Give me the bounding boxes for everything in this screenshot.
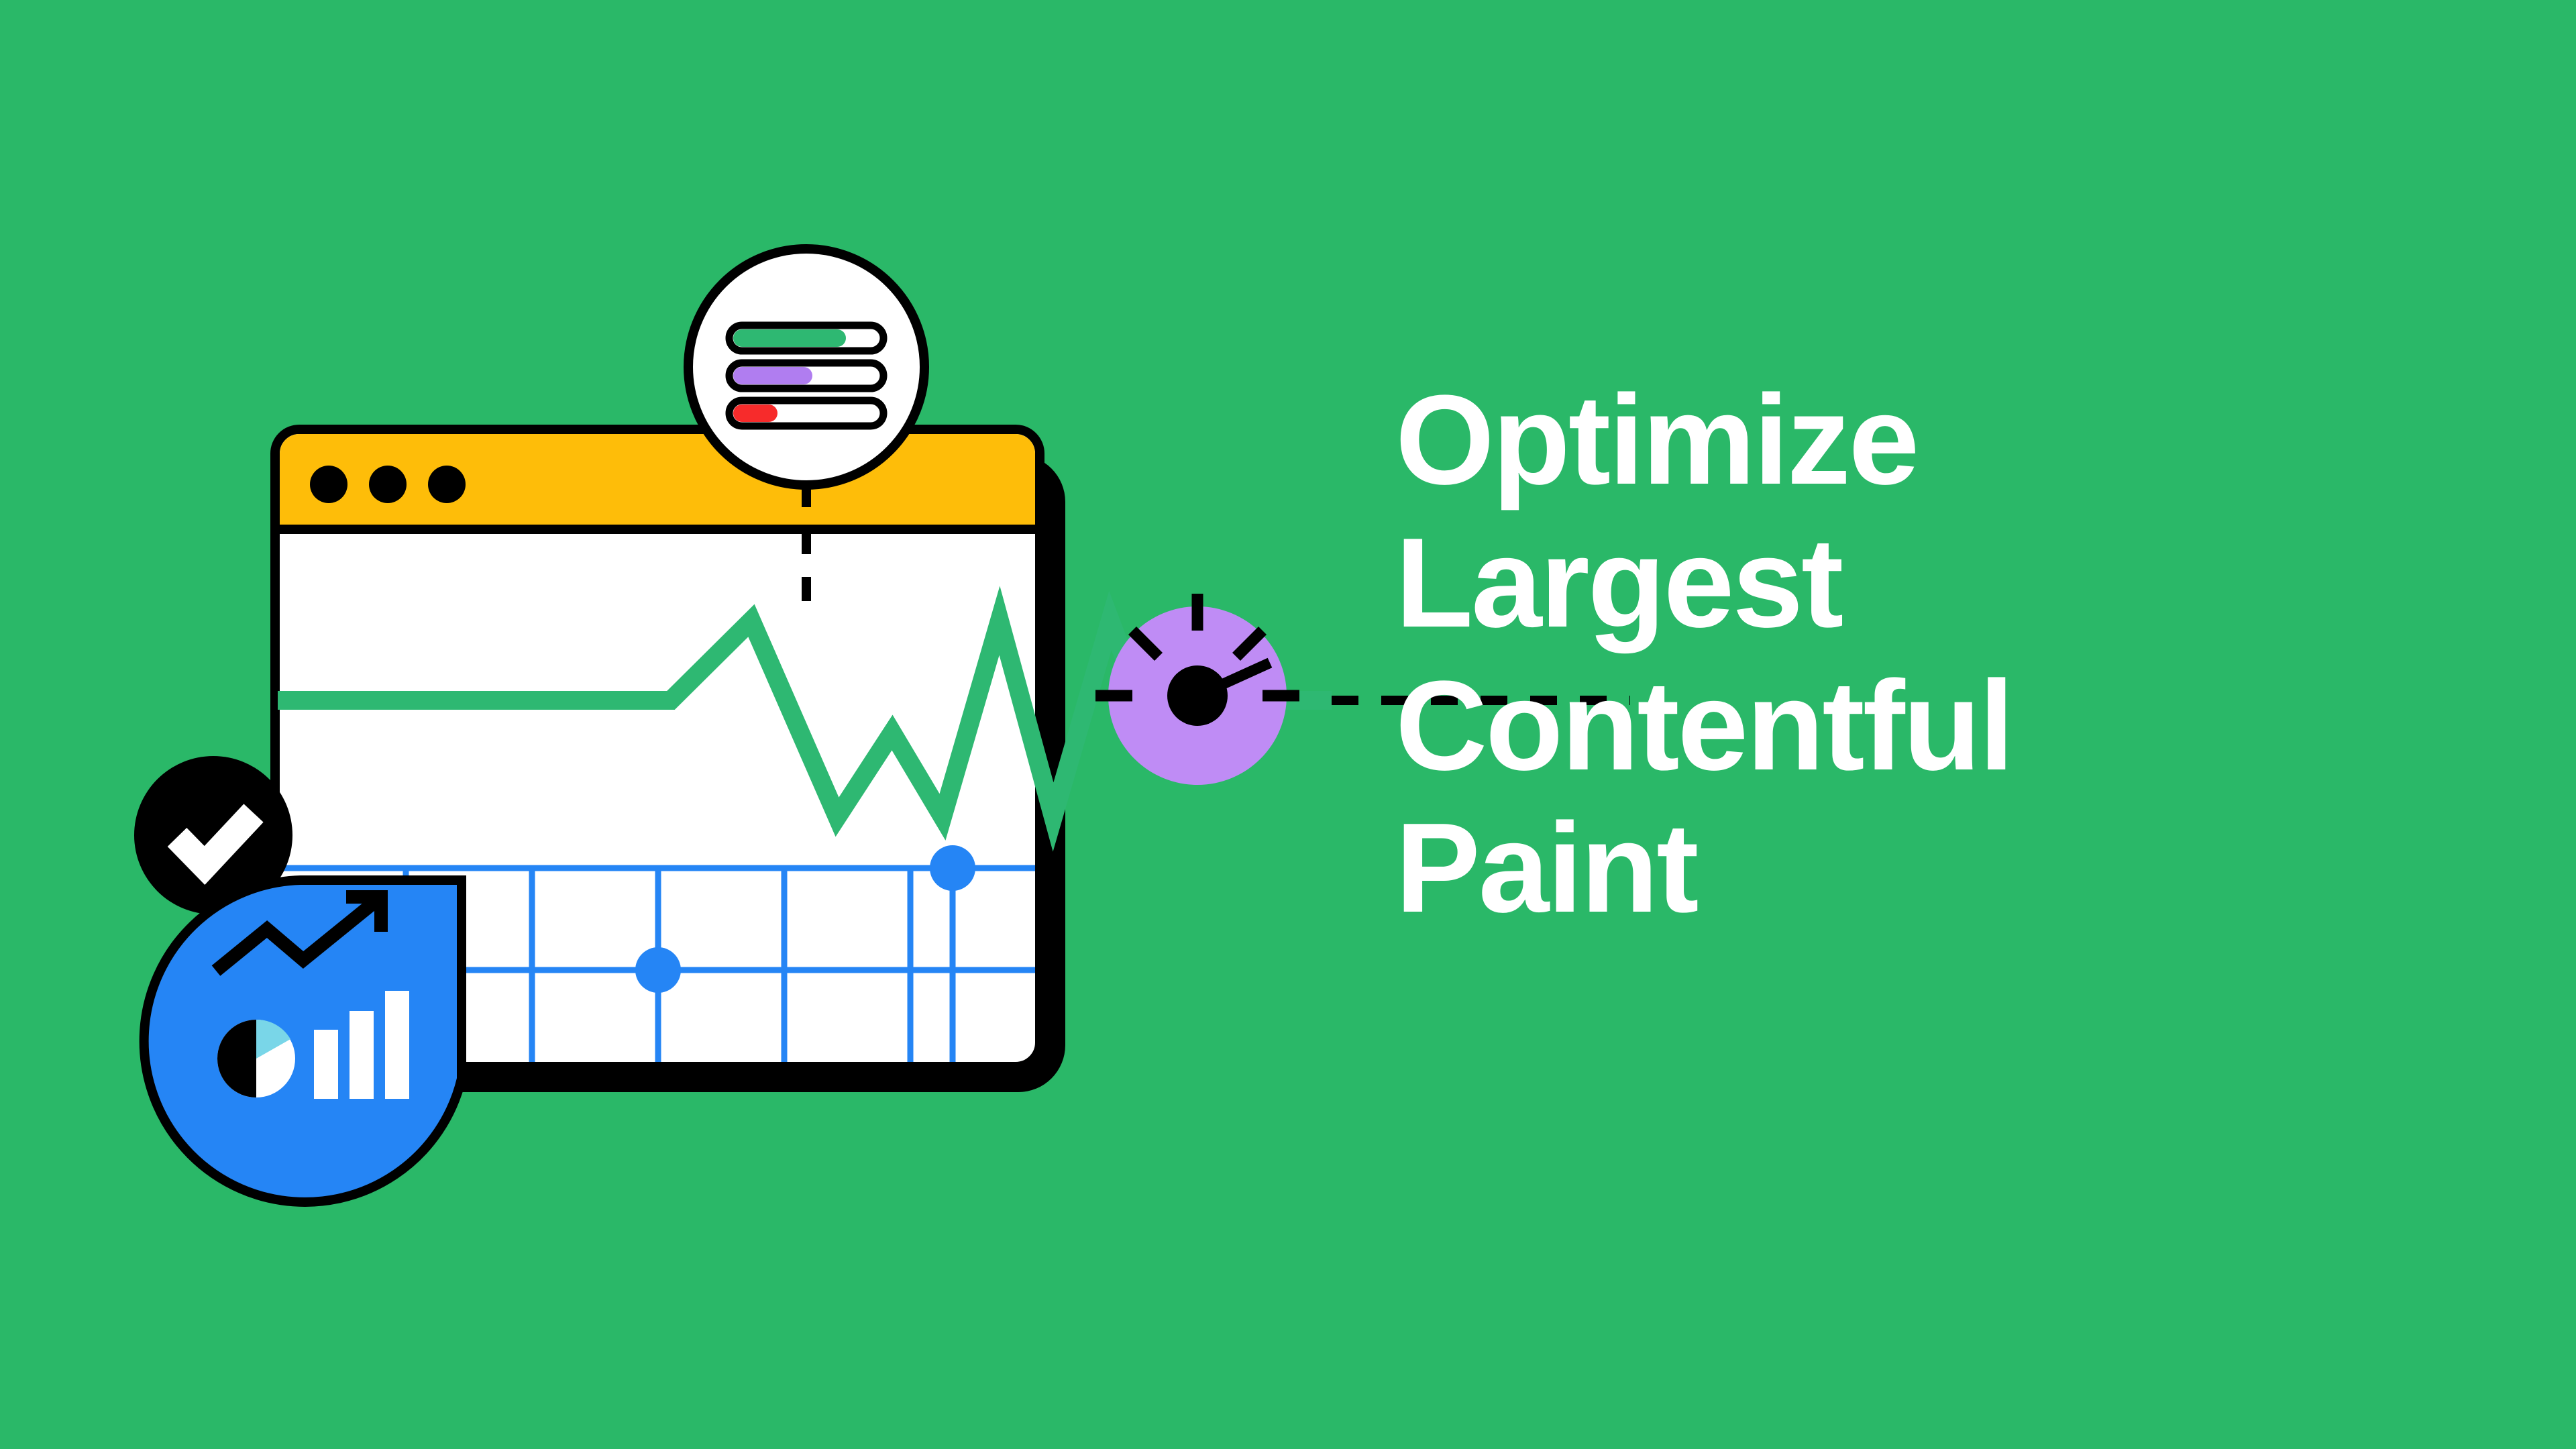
analytics-badge[interactable] [144,880,462,1202]
headline-line-4: Paint [1395,797,2368,940]
analytics-badge-body [144,880,462,1202]
bar-1 [314,1030,338,1099]
minimize-dot-icon[interactable] [369,466,407,503]
metrics-popover[interactable] [688,249,924,485]
pie-chart-icon [217,1020,295,1097]
metric-bar-fill-good [733,329,846,347]
gauge-hub [1167,665,1228,726]
illustration-stage: Optimize Largest Contentful Paint [0,0,2576,1449]
headline-line-3: Contentful [1395,655,2368,798]
metric-bar-fill-poor [733,405,777,422]
data-point-lower-left[interactable] [635,947,681,993]
headline-line-2: Largest [1395,512,2368,655]
maximize-dot-icon[interactable] [428,466,466,503]
headline-line-1: Optimize [1395,369,2368,512]
bar-3 [385,991,409,1099]
metric-bar-fill-needs-improvement [733,367,812,384]
bar-2 [350,1011,374,1099]
page-title: Optimize Largest Contentful Paint [1395,369,2368,940]
data-point-upper-right[interactable] [930,845,975,891]
close-dot-icon[interactable] [310,466,347,503]
